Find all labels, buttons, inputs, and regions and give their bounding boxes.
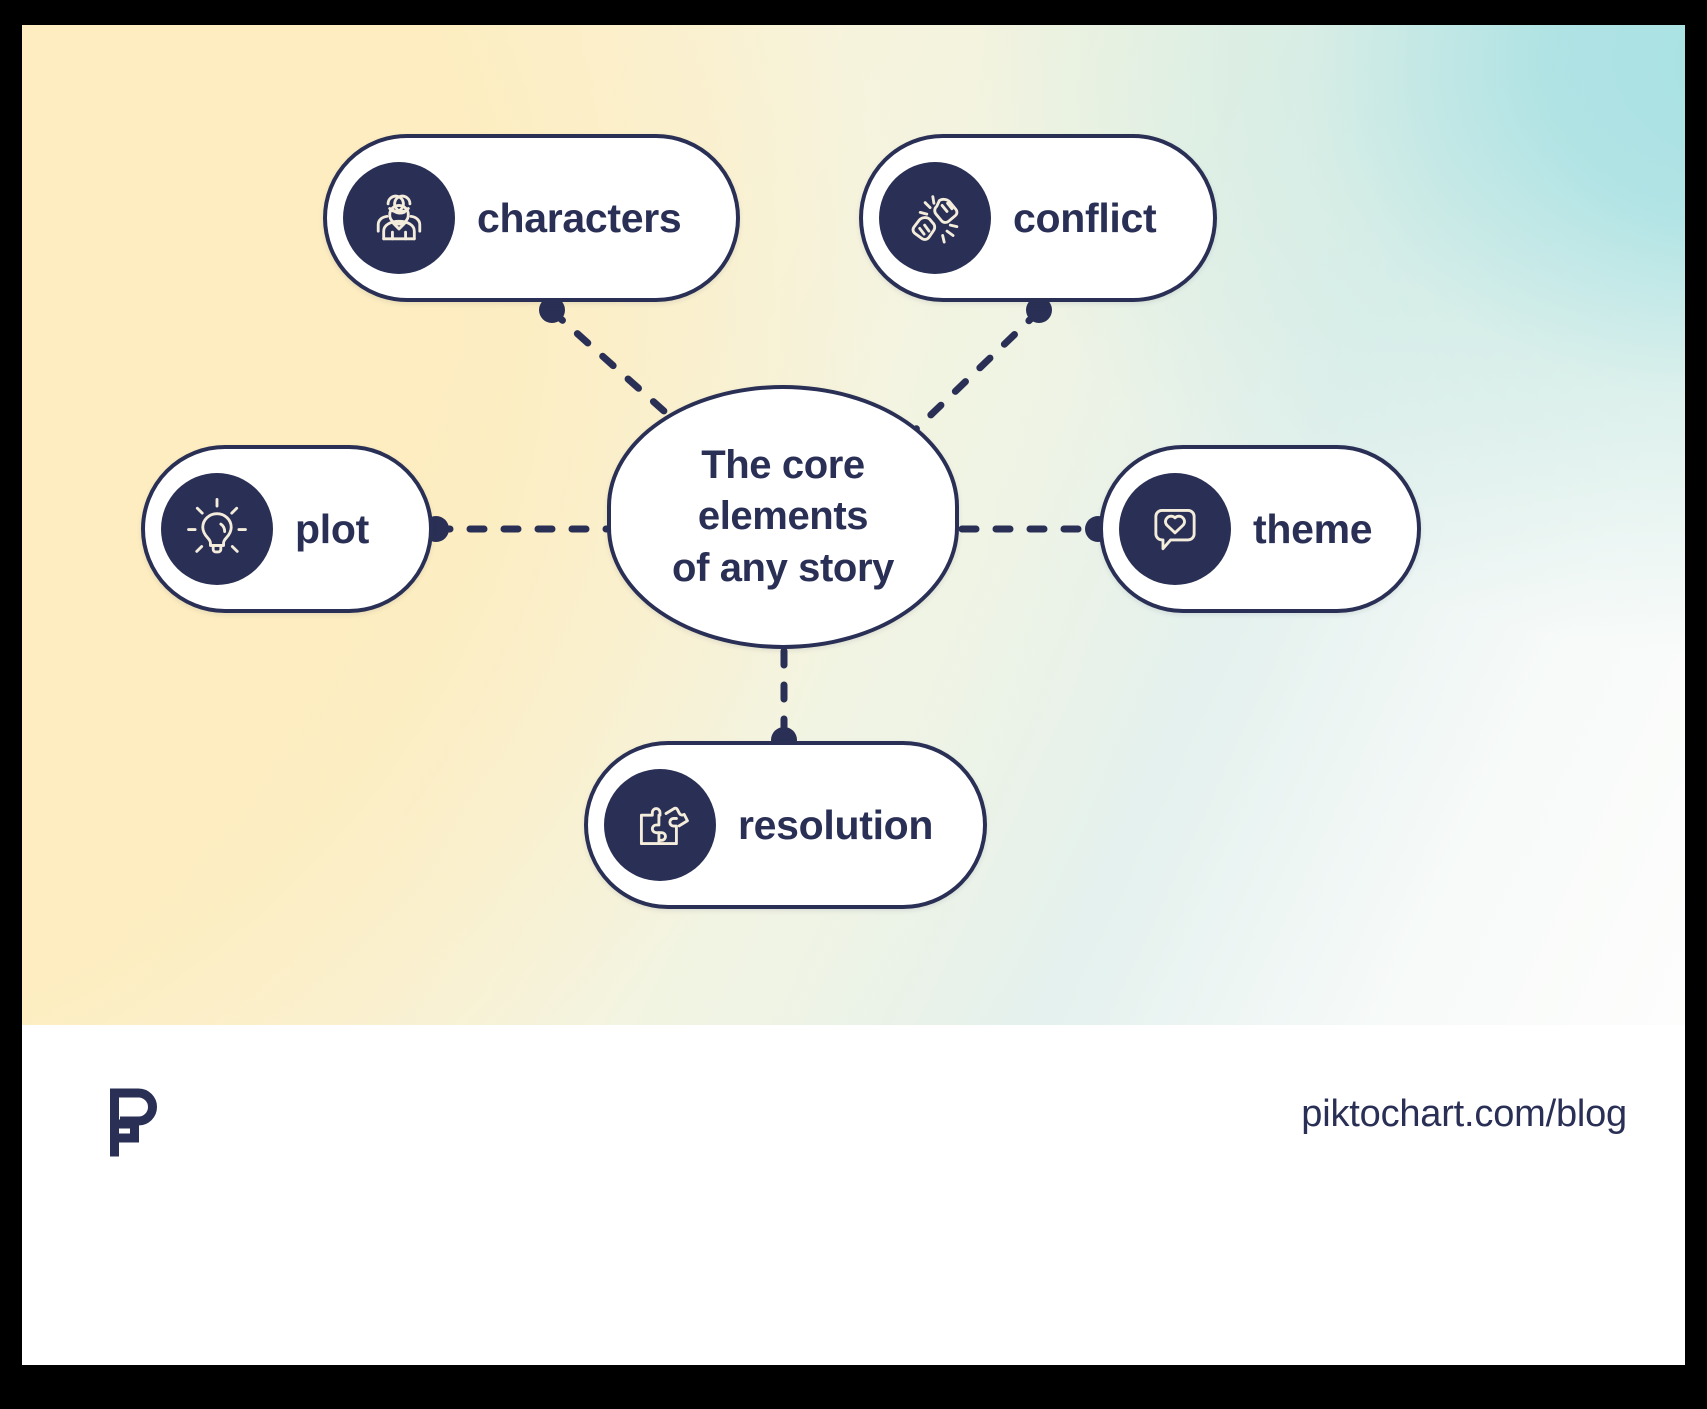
node-plot[interactable]: plot xyxy=(141,445,433,613)
mind-map-diagram: characters xyxy=(22,25,1685,1025)
speech-bubble-heart-icon xyxy=(1119,473,1231,585)
center-line-3: of any story xyxy=(672,543,894,594)
node-theme[interactable]: theme xyxy=(1099,445,1421,613)
piktochart-p-logo[interactable] xyxy=(102,1083,166,1157)
center-line-2: elements xyxy=(672,491,894,542)
clashing-fists-icon xyxy=(879,162,991,274)
puzzle-pieces-icon xyxy=(604,769,716,881)
connector-center-conflict xyxy=(912,311,1039,433)
node-characters[interactable]: characters xyxy=(323,134,740,302)
infographic-root: characters xyxy=(0,0,1707,1409)
node-plot-label: plot xyxy=(295,506,369,553)
node-center[interactable]: The core elements of any story xyxy=(607,385,959,649)
node-conflict-label: conflict xyxy=(1013,195,1156,242)
site-url-text[interactable]: piktochart.com/blog xyxy=(1301,1093,1627,1136)
footer-bar xyxy=(22,1025,1685,1365)
node-characters-label: characters xyxy=(477,195,681,242)
center-line-1: The core xyxy=(672,440,894,491)
node-theme-label: theme xyxy=(1253,506,1372,553)
infographic-canvas: characters xyxy=(22,25,1685,1365)
node-resolution-label: resolution xyxy=(738,802,933,849)
node-center-label: The core elements of any story xyxy=(672,440,894,594)
node-conflict[interactable]: conflict xyxy=(859,134,1217,302)
node-resolution[interactable]: resolution xyxy=(584,741,987,909)
lightbulb-icon xyxy=(161,473,273,585)
people-group-icon xyxy=(343,162,455,274)
